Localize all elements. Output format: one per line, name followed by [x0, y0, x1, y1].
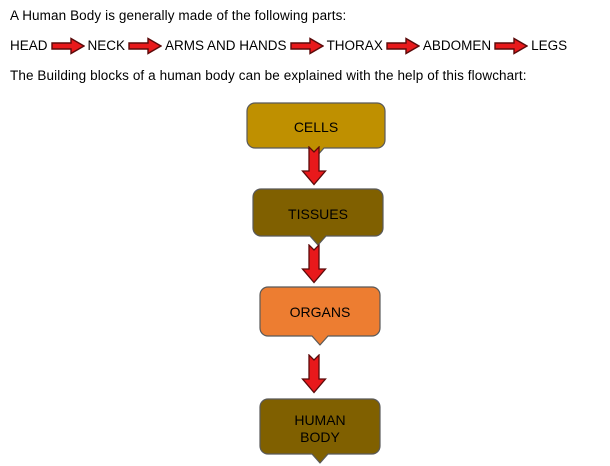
part-label-arms-and-hands: ARMS AND HANDS [165, 37, 287, 55]
part-label-thorax: THORAX [327, 37, 383, 55]
part-label-head: HEAD [10, 37, 48, 55]
body-parts-chain: HEAD NECK ARMS AND HANDS THORAX ABDOMEN … [10, 35, 567, 57]
down-arrow-icon [301, 354, 327, 394]
down-arrow-icon [301, 244, 327, 284]
intro-sentence: A Human Body is generally made of the fo… [10, 8, 346, 24]
flow-node-tissues: TISSUES [252, 188, 384, 246]
right-arrow-icon [128, 37, 162, 55]
right-arrow-icon [386, 37, 420, 55]
part-label-legs: LEGS [531, 37, 567, 55]
building-blocks-flowchart: CELLS TISSUES ORGANS [0, 96, 610, 466]
part-label-abdomen: ABDOMEN [423, 37, 491, 55]
down-arrow-icon [301, 146, 327, 186]
right-arrow-icon [290, 37, 324, 55]
outro-sentence: The Building blocks of a human body can … [10, 68, 527, 84]
part-label-neck: NECK [88, 37, 126, 55]
flow-node-organs: ORGANS [259, 286, 381, 346]
right-arrow-icon [51, 37, 85, 55]
right-arrow-icon [494, 37, 528, 55]
flow-node-human-body: HUMAN BODY [259, 398, 381, 464]
